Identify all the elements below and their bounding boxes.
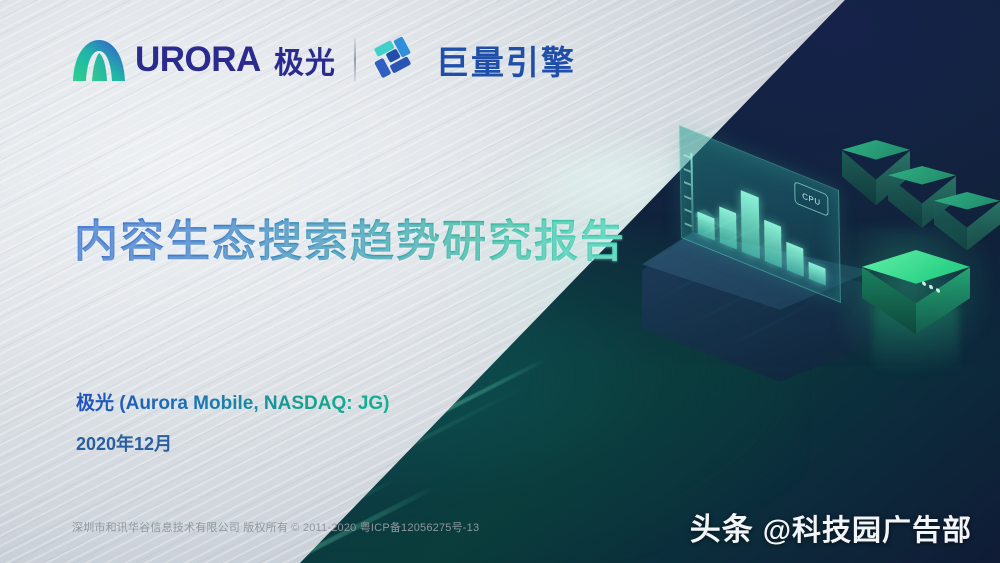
ocean-engine-logo[interactable]: 巨量引擎: [374, 36, 576, 84]
page-title: 内容生态搜索趋势研究报告: [74, 205, 626, 269]
watermark-brand: 头条: [690, 504, 754, 549]
aurora-logo[interactable]: URORA 极光: [72, 36, 336, 84]
company-byline: 极光 (Aurora Mobile, NASDAQ: JG): [76, 388, 390, 415]
logo-divider: [354, 38, 356, 82]
ocean-engine-mark: [374, 36, 426, 84]
publication-date: 2020年12月: [76, 430, 172, 456]
watermark-handle: @科技园广告部: [763, 507, 972, 549]
aurora-wordmark: URORA: [135, 40, 261, 80]
hologram-ticks: [684, 154, 692, 227]
watermark: 头条 @科技园广告部: [690, 504, 972, 549]
copyright-footer: 深圳市和讯华谷信息技术有限公司 版权所有 © 2011-2020 粤ICP备12…: [72, 519, 479, 535]
isometric-artwork: CPU: [0, 0, 1000, 563]
iso-server-block: [862, 250, 970, 358]
logo-row: URORA 极光 巨量引擎: [72, 36, 576, 84]
aurora-a-mark: [72, 36, 126, 84]
presentation-slide: CPU: [0, 0, 1000, 563]
ocean-engine-chinese-name: 巨量引擎: [436, 36, 576, 84]
aurora-chinese-name: 极光: [274, 38, 336, 82]
